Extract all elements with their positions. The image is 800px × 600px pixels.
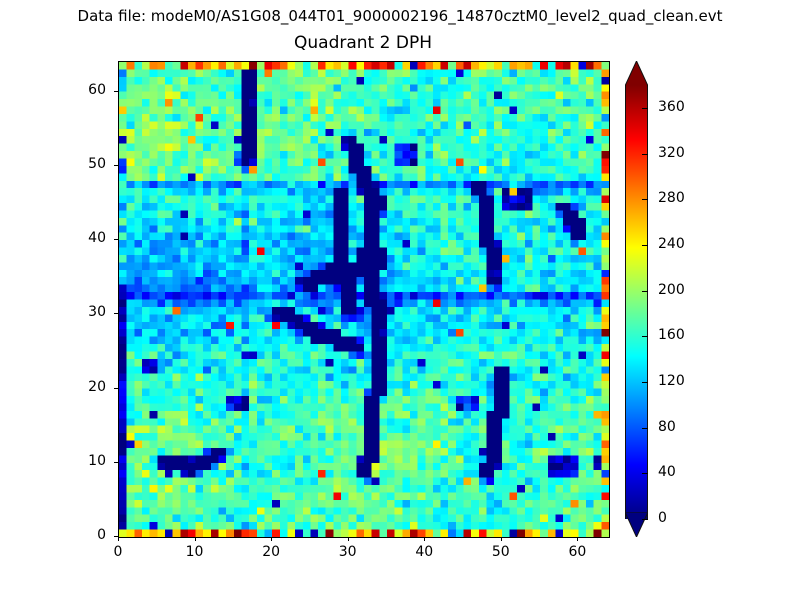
plot-title: Quadrant 2 DPH [118, 33, 608, 53]
colorbar-tick-mark [642, 336, 648, 337]
colorbar-tick-mark [642, 291, 648, 292]
figure-canvas: Data file: modeM0/AS1G08_044T01_90000021… [0, 0, 800, 600]
x-tick-mark [424, 537, 425, 541]
colorbar-tick-mark [642, 428, 648, 429]
colorbar-tick-mark [642, 473, 648, 474]
data-file-suptitle: Data file: modeM0/AS1G08_044T01_90000021… [0, 7, 800, 25]
colorbar-tick-label: 280 [658, 190, 685, 206]
x-tick-mark [501, 537, 502, 541]
x-tick-label: 10 [175, 544, 215, 560]
colorbar-over-arrow-icon [625, 61, 648, 85]
heatmap-axes [118, 61, 610, 538]
colorbar: 04080120160200240280320360 [625, 61, 648, 536]
colorbar-tick-mark [642, 154, 648, 155]
x-tick-mark [118, 537, 119, 541]
y-tick-label: 50 [66, 156, 106, 172]
colorbar-tick-label: 120 [658, 373, 685, 389]
x-tick-label: 0 [98, 544, 138, 560]
y-tick-mark [114, 165, 118, 166]
x-tick-label: 20 [251, 544, 291, 560]
colorbar-tick-mark [642, 245, 648, 246]
x-tick-label: 60 [557, 544, 597, 560]
x-tick-label: 30 [328, 544, 368, 560]
colorbar-tick-label: 360 [658, 99, 685, 115]
y-tick-label: 40 [66, 230, 106, 246]
y-tick-mark [114, 313, 118, 314]
colorbar-tick-mark [642, 382, 648, 383]
colorbar-tick-mark [642, 519, 648, 520]
y-tick-label: 20 [66, 379, 106, 395]
y-tick-label: 30 [66, 304, 106, 320]
y-tick-label: 10 [66, 453, 106, 469]
y-tick-mark [114, 388, 118, 389]
y-tick-mark [114, 462, 118, 463]
x-tick-mark [577, 537, 578, 541]
x-tick-mark [271, 537, 272, 541]
y-tick-label: 0 [66, 527, 106, 543]
colorbar-tick-label: 40 [658, 464, 676, 480]
x-tick-mark [348, 537, 349, 541]
x-tick-label: 40 [404, 544, 444, 560]
colorbar-tick-mark [642, 108, 648, 109]
x-tick-mark [195, 537, 196, 541]
colorbar-tick-mark [642, 199, 648, 200]
y-tick-label: 60 [66, 82, 106, 98]
y-tick-mark [114, 239, 118, 240]
dph-heatmap-image [119, 62, 609, 537]
colorbar-tick-label: 0 [658, 510, 667, 526]
colorbar-under-arrow-icon [625, 512, 648, 536]
y-tick-mark [114, 536, 118, 537]
colorbar-tick-label: 200 [658, 282, 685, 298]
x-tick-label: 50 [481, 544, 521, 560]
y-tick-mark [114, 91, 118, 92]
colorbar-gradient [625, 85, 648, 519]
colorbar-tick-label: 80 [658, 419, 676, 435]
colorbar-tick-label: 240 [658, 236, 685, 252]
colorbar-tick-label: 160 [658, 327, 685, 343]
colorbar-tick-label: 320 [658, 145, 685, 161]
